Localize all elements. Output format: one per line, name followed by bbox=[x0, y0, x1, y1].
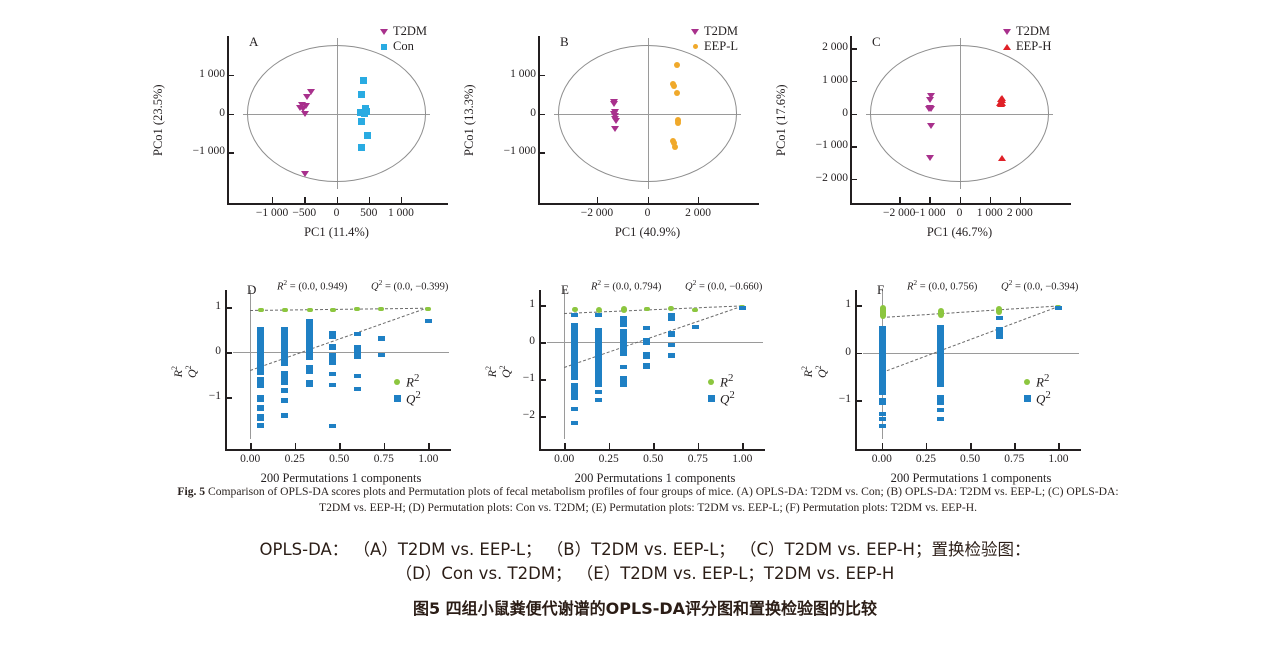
legend-label: Q2 bbox=[1036, 389, 1051, 407]
x-tick bbox=[1014, 443, 1015, 450]
q2-point-column bbox=[879, 417, 886, 421]
figure-caption-chinese: OPLS-DA： （A）T2DM vs. EEP-L； （B）T2DM vs. … bbox=[120, 538, 1170, 586]
x-tick bbox=[970, 443, 971, 450]
panel-f: 10−10.000.250.500.751.00200 Permutations… bbox=[0, 0, 1288, 480]
r2-point-column bbox=[996, 306, 1002, 315]
q2-point-column bbox=[937, 408, 944, 412]
y-axis-title: R2Q2 bbox=[801, 365, 828, 378]
legend-label: R2 bbox=[1036, 372, 1049, 390]
q2-point-column bbox=[879, 424, 886, 428]
q2-point-column bbox=[879, 412, 886, 416]
q2-point-column bbox=[879, 326, 886, 394]
x-tick-label: 1.00 bbox=[1028, 453, 1088, 465]
annotation-r2: R2 = (0.0, 0.756) bbox=[907, 278, 977, 293]
q2-point-column bbox=[937, 325, 944, 387]
figure-caption-chinese-title: 图5 四组小鼠粪便代谢谱的OPLS-DA评分图和置换检验图的比较 bbox=[120, 595, 1170, 619]
y-tick bbox=[855, 353, 862, 354]
y-tick-label: −1 bbox=[817, 393, 851, 405]
annotation-q2: Q2 = (0.0, −0.394) bbox=[1001, 278, 1078, 293]
q2-point-column bbox=[1055, 306, 1062, 310]
q2-point-column bbox=[937, 417, 944, 421]
r2-point-column bbox=[880, 305, 886, 319]
figure-5: 1 0000−1 000−1 000−50005001 000PC1 (11.4… bbox=[0, 0, 1288, 480]
x-axis-spine bbox=[855, 449, 1081, 451]
y-axis-spine bbox=[855, 290, 857, 449]
horizontal-zero-line bbox=[863, 353, 1079, 354]
q2-point-column bbox=[879, 398, 886, 405]
q2-point-column bbox=[996, 327, 1003, 339]
r2-point-column bbox=[938, 308, 944, 318]
y-tick-label: 0 bbox=[817, 346, 851, 358]
x-tick bbox=[882, 443, 883, 450]
figure-caption-english: Fig. 5 Comparison of OPLS-DA scores plot… bbox=[176, 484, 1120, 517]
x-tick bbox=[926, 443, 927, 450]
x-tick bbox=[1058, 443, 1059, 450]
q2-point-column bbox=[996, 316, 1003, 320]
legend: R2Q2 bbox=[1021, 373, 1051, 407]
panel-letter: F bbox=[877, 282, 884, 298]
y-tick-label: 1 bbox=[817, 298, 851, 310]
y-tick bbox=[855, 305, 862, 306]
q2-point-column bbox=[937, 395, 944, 404]
legend-item-q2: Q2 bbox=[1021, 390, 1051, 407]
legend-marker-square-icon bbox=[1021, 395, 1033, 402]
legend-marker-circle-icon bbox=[1021, 379, 1033, 385]
legend-item-r2: R2 bbox=[1021, 373, 1051, 390]
y-tick bbox=[855, 400, 862, 401]
